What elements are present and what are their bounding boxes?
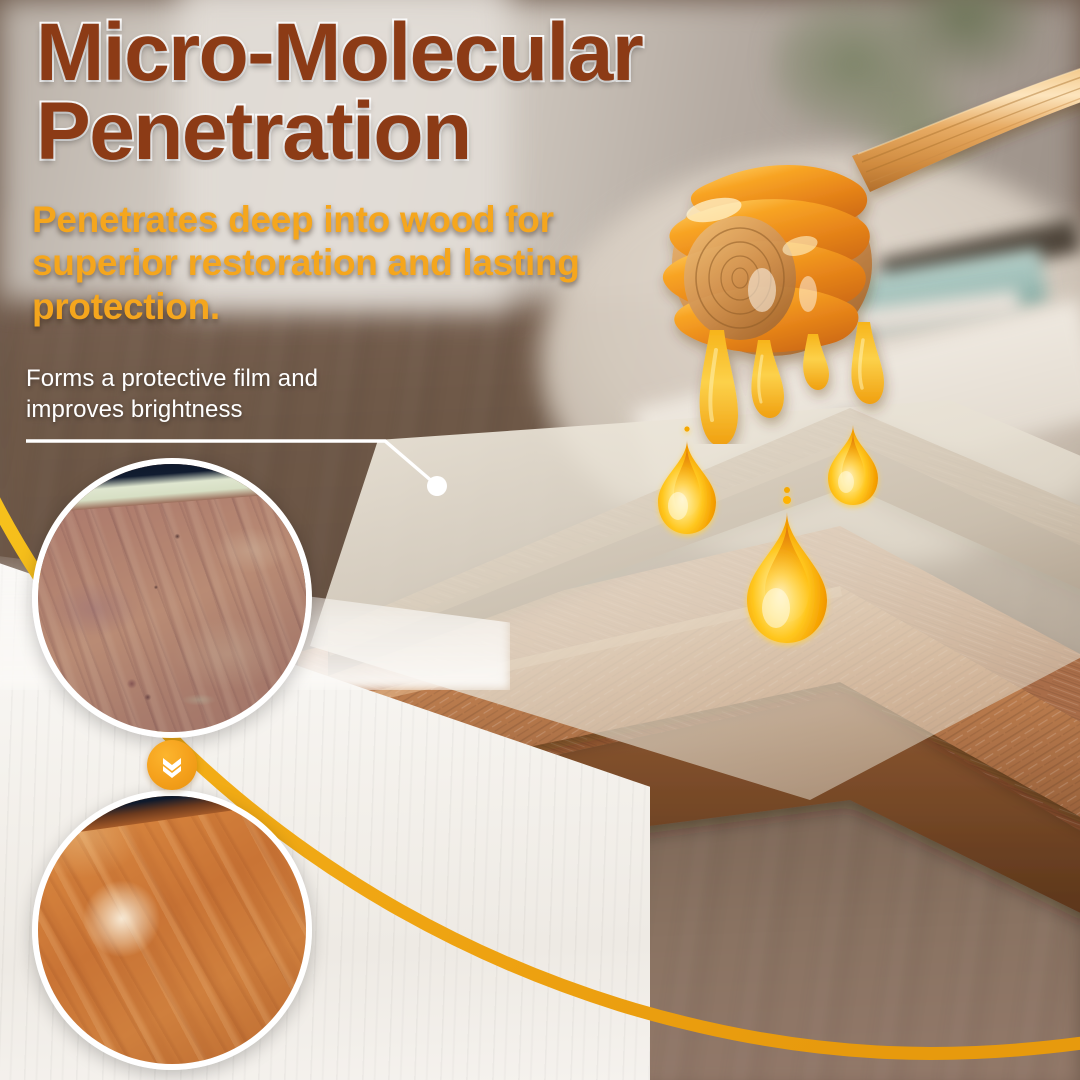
after-photo-circle — [32, 790, 312, 1070]
note-line-2: improves brightness — [26, 396, 243, 423]
leader-endpoint-dot — [427, 476, 447, 496]
headline-line-1: Micro-Molecular — [36, 7, 642, 98]
subheadline: Penetrates deep into wood for superior r… — [32, 198, 682, 328]
oil-droplets-group — [640, 420, 940, 660]
poster-canvas: Micro-Molecular Penetration Penetrates d… — [0, 0, 1080, 1080]
double-chevron-down-icon — [158, 751, 186, 779]
film-callout-note: Forms a protective film and improves bri… — [26, 363, 426, 425]
transition-badge — [147, 740, 197, 790]
note-line-1: Forms a protective film and — [26, 365, 318, 392]
oil-drop-center — [747, 487, 827, 643]
headline-line-2: Penetration — [36, 93, 696, 172]
page-title: Micro-Molecular Penetration — [36, 14, 696, 171]
